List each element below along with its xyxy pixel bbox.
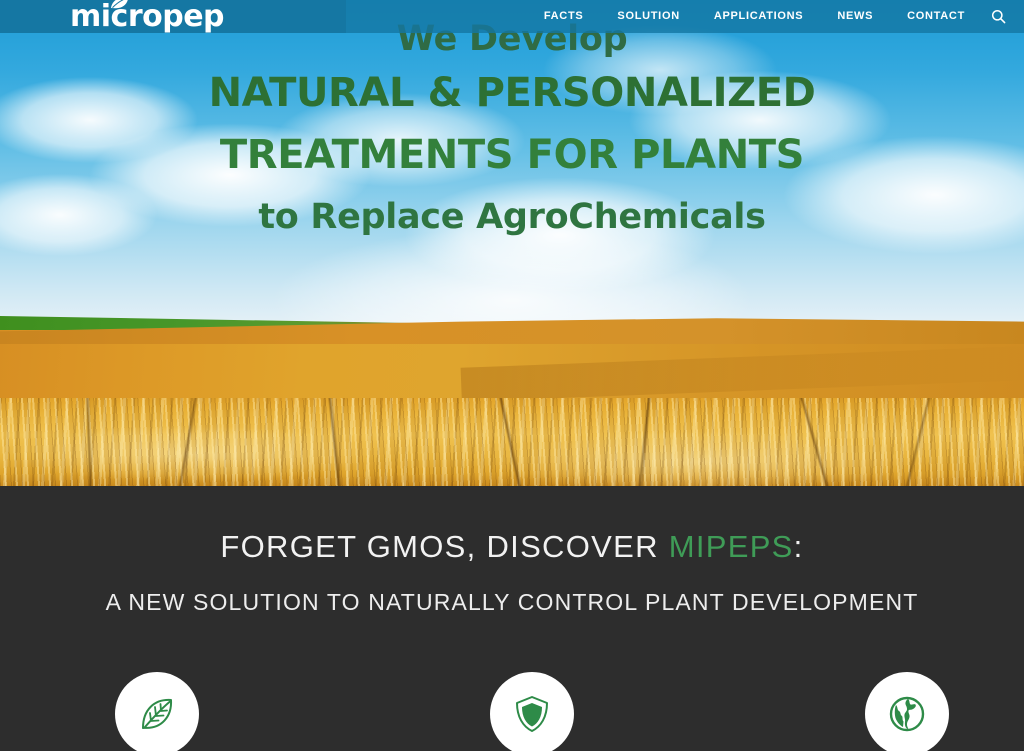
feature-item-2 — [490, 672, 574, 751]
search-icon[interactable] — [984, 0, 1012, 33]
intro-section: FORGET GMOS, DISCOVER MIPEPS: A NEW SOLU… — [0, 486, 1024, 751]
feature-icon-leaf[interactable] — [115, 672, 199, 751]
hero-heading: We Develop NATURAL & PERSONALIZED TREATM… — [0, 16, 1024, 248]
leaf-icon — [110, 0, 130, 9]
hero-wheat-awns — [0, 398, 1024, 486]
section-title-part1: FORGET GMOS, DISCOVER — [220, 529, 668, 564]
nav-item-contact[interactable]: CONTACT — [890, 0, 982, 33]
feature-icon-shield[interactable] — [490, 672, 574, 751]
site-header: micropep FACTS SOLUTION APPLICATIONS NEW… — [0, 0, 1024, 33]
nav-item-facts[interactable]: FACTS — [527, 0, 601, 33]
feature-icon-globe[interactable] — [865, 672, 949, 751]
hero-heading-line-4: to Replace AgroChemicals — [0, 186, 1024, 248]
site-logo[interactable]: micropep — [70, 1, 224, 32]
feature-icon-row — [0, 672, 1024, 751]
logo-text: micropep — [70, 2, 224, 32]
page-root: micropep FACTS SOLUTION APPLICATIONS NEW… — [0, 0, 1024, 751]
section-title-accent: MIPEPS — [669, 529, 794, 564]
nav-item-solution[interactable]: SOLUTION — [600, 0, 696, 33]
section-title: FORGET GMOS, DISCOVER MIPEPS: — [0, 529, 1024, 565]
section-subtitle: A NEW SOLUTION TO NATURALLY CONTROL PLAN… — [0, 589, 1024, 616]
hero-heading-line-2: NATURAL & PERSONALIZED — [0, 62, 1024, 124]
feature-item-1 — [115, 672, 199, 751]
section-title-colon: : — [794, 529, 804, 564]
hero-heading-line-3: TREATMENTS FOR PLANTS — [0, 124, 1024, 186]
feature-item-3 — [865, 672, 949, 751]
nav-item-news[interactable]: NEWS — [820, 0, 890, 33]
main-navigation: FACTS SOLUTION APPLICATIONS NEWS CONTACT — [527, 0, 1012, 33]
nav-item-applications[interactable]: APPLICATIONS — [697, 0, 820, 33]
